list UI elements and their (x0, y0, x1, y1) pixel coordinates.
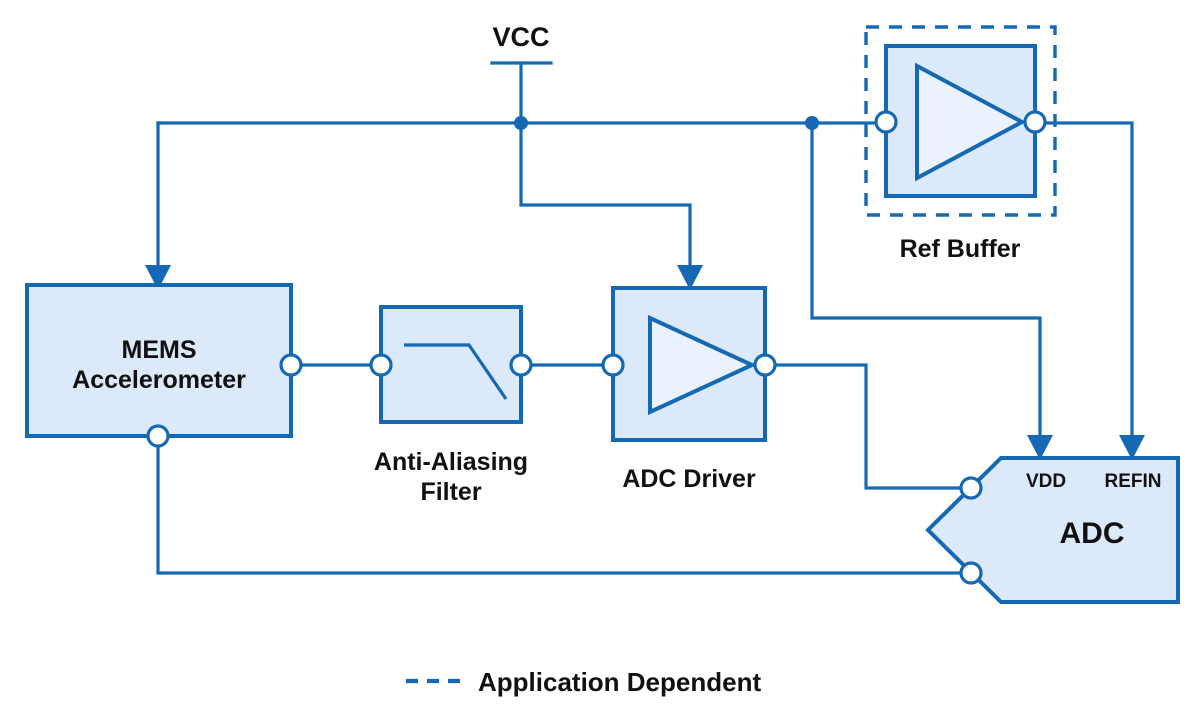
filter-box (381, 307, 521, 422)
junction-vcc-main (514, 116, 528, 130)
filter-label-line2: Filter (420, 478, 481, 506)
junction-vcc-refbuffer (805, 116, 819, 130)
filter-output-port[interactable] (511, 355, 531, 375)
mems-label-line1: MEMS (122, 336, 197, 364)
adc-pin-refin-label: REFIN (1105, 471, 1162, 492)
mems-bottom-port[interactable] (148, 426, 168, 446)
driver-input-port[interactable] (603, 355, 623, 375)
adc-pin-vdd-label: VDD (1026, 471, 1066, 492)
filter-input-port[interactable] (371, 355, 391, 375)
circuit-diagram-svg: MEMS Accelerometer Anti-Aliasing Filter … (0, 0, 1200, 716)
wire-refbuffer-to-refin (1035, 123, 1132, 442)
adc-label: ADC (1060, 517, 1125, 550)
filter-label-line1: Anti-Aliasing (374, 448, 528, 476)
block-mems-accelerometer[interactable]: MEMS Accelerometer (27, 285, 301, 446)
block-adc-driver[interactable]: ADC Driver (603, 288, 775, 493)
mems-output-port[interactable] (281, 355, 301, 375)
block-anti-aliasing-filter[interactable]: Anti-Aliasing Filter (371, 307, 531, 506)
block-diagram-canvas: MEMS Accelerometer Anti-Aliasing Filter … (0, 0, 1200, 716)
adc-input-port-negative[interactable] (961, 563, 981, 583)
wire-driver-to-adc-in (765, 365, 971, 488)
mems-label-line2: Accelerometer (72, 366, 246, 394)
driver-label: ADC Driver (622, 465, 756, 493)
ref-buffer-output-port[interactable] (1025, 112, 1045, 132)
block-ref-buffer[interactable]: Ref Buffer (866, 27, 1055, 263)
block-adc[interactable]: VDD REFIN ADC (928, 458, 1178, 602)
wire-vcc-to-driver (521, 123, 690, 272)
ref-buffer-label: Ref Buffer (900, 235, 1021, 263)
wire-mems-to-adc-in-neg (158, 436, 971, 573)
ref-buffer-input-port[interactable] (876, 112, 896, 132)
legend: Application Dependent (406, 667, 761, 697)
driver-output-port[interactable] (755, 355, 775, 375)
vcc-label: VCC (492, 22, 549, 52)
legend-label: Application Dependent (478, 667, 761, 697)
adc-input-port-positive[interactable] (961, 478, 981, 498)
